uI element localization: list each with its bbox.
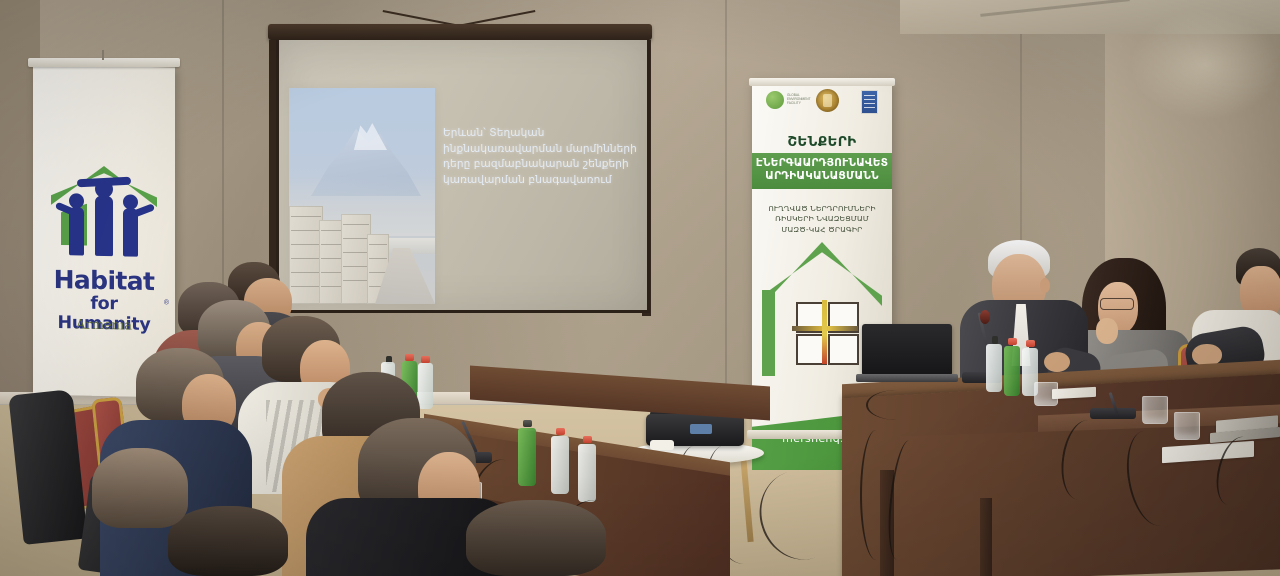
window-pane	[828, 334, 859, 365]
water-bottle	[1004, 346, 1020, 396]
registered-mark-icon: ®	[164, 299, 169, 306]
hair	[92, 448, 188, 528]
bottle-cap	[583, 436, 592, 443]
window-mullion-vertical	[822, 300, 827, 364]
ceiling-light-glow	[1130, 10, 1280, 120]
projection-screen: Երևան՝ Տեղական ինքնակառավարման մարմիններ…	[268, 24, 652, 310]
slide-text: Երևան՝ Տեղական ինքնակառավարման մարմիններ…	[443, 126, 639, 188]
figure-head	[69, 193, 84, 208]
figure-body	[69, 207, 84, 255]
banner-subtitle-line: ՈՒՂՂՎԱԾ ՆԵՐԴՐՈՒՄՆԵՐԻ	[756, 204, 888, 214]
water-bottle	[986, 344, 1002, 392]
figure-head	[123, 194, 138, 209]
laptop[interactable]	[862, 324, 952, 376]
bottle-cap	[405, 354, 414, 361]
figure-body	[123, 208, 138, 256]
drinking-glass	[1142, 396, 1168, 424]
mershenq-banner-rail	[749, 78, 895, 86]
armenia-coat-of-arms-icon	[816, 89, 839, 112]
undp-logo-icon	[861, 90, 878, 114]
eyeglasses-icon	[1100, 298, 1134, 310]
banner-subtitle: ՈՒՂՂՎԱԾ ՆԵՐԴՐՈՒՄՆԵՐԻ ՌԻՍԿԵՐԻ ՆՎԱԶԵՑՄԱՄ Մ…	[756, 204, 888, 235]
microphone-head-icon	[980, 310, 990, 324]
bottle-cap	[556, 428, 565, 435]
hair	[466, 500, 606, 576]
paper-document	[650, 440, 674, 450]
water-bottle	[418, 363, 433, 409]
conference-room-photo: Երևան՝ Տեղական ինքնակառավարման մարմիններ…	[0, 0, 1280, 576]
slide-text-line: կառավարման բնագավառում	[443, 173, 639, 189]
gef-logo-icon	[766, 91, 784, 109]
banner-green-line: ԱՐԴԻԱԿԱՆԱՑՄԱՆՆ	[752, 170, 892, 183]
habitat-title-line1: Habitat	[43, 265, 165, 297]
apartment-building	[289, 206, 323, 304]
bottle-cap	[523, 420, 532, 427]
slide-photo	[289, 88, 435, 304]
banner-green-band: ԷՆԵՐԳԱԱՐԴՅՈՒՆԱՎԵՏ ԱՐԴԻԱԿԱՆԱՑՄԱՆՆ	[752, 153, 892, 189]
slide-text-line: դերը բազմաբնակարան շենքերի	[443, 157, 639, 173]
microphone-base	[1090, 408, 1136, 419]
screen-canvas: Երևան՝ Տեղական ինքնակառավարման մարմիններ…	[276, 40, 650, 313]
screen-roller	[268, 24, 652, 40]
slide-text-line: Երևան՝ Տեղական	[443, 126, 639, 142]
ear	[1040, 278, 1050, 293]
bottle-cap	[1026, 340, 1035, 347]
banner-heading: ՇԵՆՔԵՐԻ	[752, 134, 892, 150]
cable	[860, 430, 892, 560]
water-bottle	[551, 436, 569, 494]
laptop-base	[856, 374, 958, 382]
gef-logo-caption: GLOBAL ENVIRONMENT FACILITY	[787, 93, 813, 106]
bottle-cap	[421, 356, 430, 363]
projector-port-icon	[690, 424, 712, 434]
table-leg	[980, 498, 992, 576]
hair	[168, 506, 288, 576]
habitat-country: Armenia	[41, 317, 167, 335]
drinking-glass	[1174, 412, 1200, 440]
wall-seam	[725, 0, 727, 420]
habitat-banner: Habitat for Humanity ® Armenia	[33, 65, 175, 398]
banner-subtitle-line: ՄԱԶԾ-ԿԱՀ ԾՐԱԳԻՐ	[756, 225, 888, 235]
house-wall	[762, 290, 775, 376]
banner-hook-icon	[102, 50, 104, 60]
banner-logo-row: GLOBAL ENVIRONMENT FACILITY	[760, 88, 884, 116]
habitat-logo-icon	[51, 151, 157, 261]
bottle-cap	[1008, 338, 1017, 345]
habitat-banner-rail	[28, 58, 180, 67]
banner-green-line: ԷՆԵՐԳԱԱՐԴՅՈՒՆԱՎԵՏ	[752, 157, 892, 170]
banner-subtitle-line: ՌԻՍԿԵՐԻ ՆՎԱԶԵՑՄԱՄ	[756, 214, 888, 224]
slide-text-line: ինքնակառավարման մարմինների	[443, 142, 639, 158]
cable	[866, 390, 928, 420]
hand	[1096, 318, 1118, 344]
house-roof	[762, 242, 882, 306]
water-bottle	[578, 444, 596, 502]
figure-body	[95, 196, 113, 256]
hand	[1044, 352, 1070, 372]
water-bottle	[518, 428, 536, 486]
bottle-neck	[992, 336, 998, 344]
